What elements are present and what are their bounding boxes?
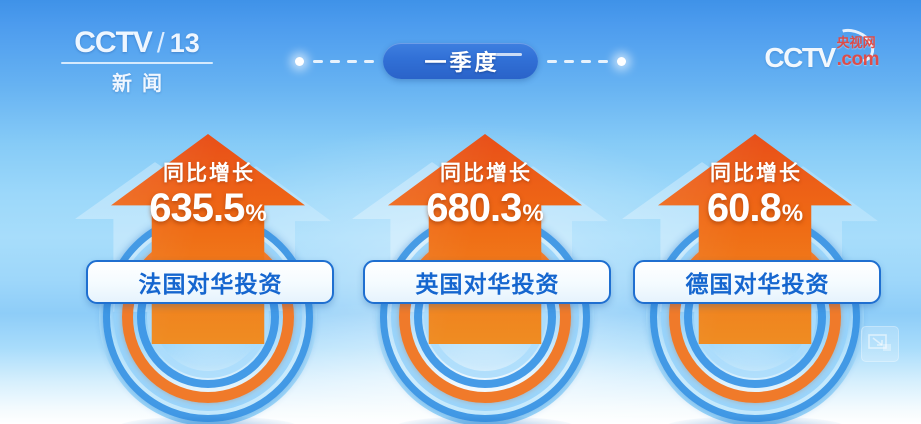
banner-title: 一季度 xyxy=(421,45,499,77)
banner-pill: 一季度 xyxy=(383,43,538,79)
restore-window-icon[interactable] xyxy=(861,326,899,362)
ring-ground-shadow xyxy=(395,416,575,424)
country-label-text: 英国对华投资 xyxy=(415,265,560,299)
country-label-chip: 德国对华投资 xyxy=(633,260,881,304)
broadcast-graphic-screen: CCTV / 13 新闻 CCTV 央视网 .com 一季度 xyxy=(0,0,921,424)
data-column-uk: 同比增长 680.3% 英国对华投资 xyxy=(340,110,630,410)
data-columns: 同比增长 635.5% 法国对华投资 xyxy=(0,110,921,410)
ring-ground-shadow xyxy=(665,416,845,424)
banner-dot-left-icon xyxy=(295,57,304,66)
country-label-text: 德国对华投资 xyxy=(685,265,830,299)
data-column-germany: 同比增长 60.8% 德国对华投资 xyxy=(610,110,900,410)
country-label-chip: 法国对华投资 xyxy=(86,260,334,304)
country-label-text: 法国对华投资 xyxy=(138,265,283,299)
data-column-france: 同比增长 635.5% 法国对华投资 xyxy=(63,110,353,410)
banner-dot-right-icon xyxy=(617,57,626,66)
title-banner: 一季度 xyxy=(0,42,921,80)
banner-dashes-right xyxy=(547,60,608,63)
banner-dashes-left xyxy=(313,60,374,63)
ring-ground-shadow xyxy=(118,416,298,424)
country-label-chip: 英国对华投资 xyxy=(363,260,611,304)
